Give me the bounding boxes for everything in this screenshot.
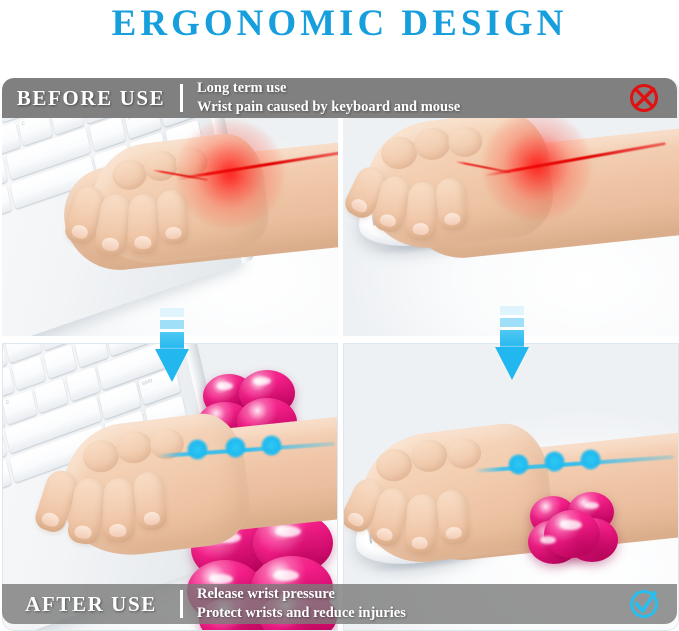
relief-indicator-dot — [508, 454, 529, 475]
after-use-line-2: Protect wrists and reduce injuries — [197, 604, 611, 623]
blue-check-circle-icon — [611, 587, 677, 621]
after-use-label: AFTER USE — [2, 592, 180, 617]
before-use-line-2: Wrist pain caused by keyboard and mouse — [197, 98, 611, 117]
relief-indicator-dot — [261, 435, 282, 456]
page-title: ERGONOMIC DESIGN — [0, 2, 679, 45]
down-arrow-left — [155, 308, 189, 382]
before-use-label: BEFORE USE — [2, 86, 180, 111]
before-use-description: Long term use Wrist pain caused by keybo… — [183, 79, 611, 117]
after-use-line-1: Release wrist pressure — [197, 585, 611, 604]
before-use-line-1: Long term use — [197, 79, 611, 98]
ergonomic-design-infographic: ERGONOMIC DESIGN EscF1F2F3F4F5 QWERT ASD… — [0, 0, 679, 631]
before-use-bar: BEFORE USE Long term use Wrist pain caus… — [2, 78, 677, 118]
finger — [405, 181, 439, 241]
relief-indicator-dot — [580, 449, 601, 470]
relief-indicator-dot — [225, 437, 246, 458]
after-use-description: Release wrist pressure Protect wrists an… — [183, 585, 611, 623]
finger — [404, 493, 439, 555]
finger — [435, 177, 468, 231]
relief-indicator-dot — [187, 439, 208, 460]
panel-grid: EscF1F2F3F4F5 QWERT ASDF ZXCV CtrlFnAltS… — [0, 78, 679, 631]
finger — [102, 477, 136, 542]
red-cross-circle-icon — [611, 81, 677, 115]
down-arrow-right — [495, 306, 529, 380]
after-use-bar: AFTER USE Release wrist pressure Protect… — [2, 584, 677, 624]
finger — [127, 193, 160, 254]
relief-indicator-dot — [544, 451, 565, 472]
